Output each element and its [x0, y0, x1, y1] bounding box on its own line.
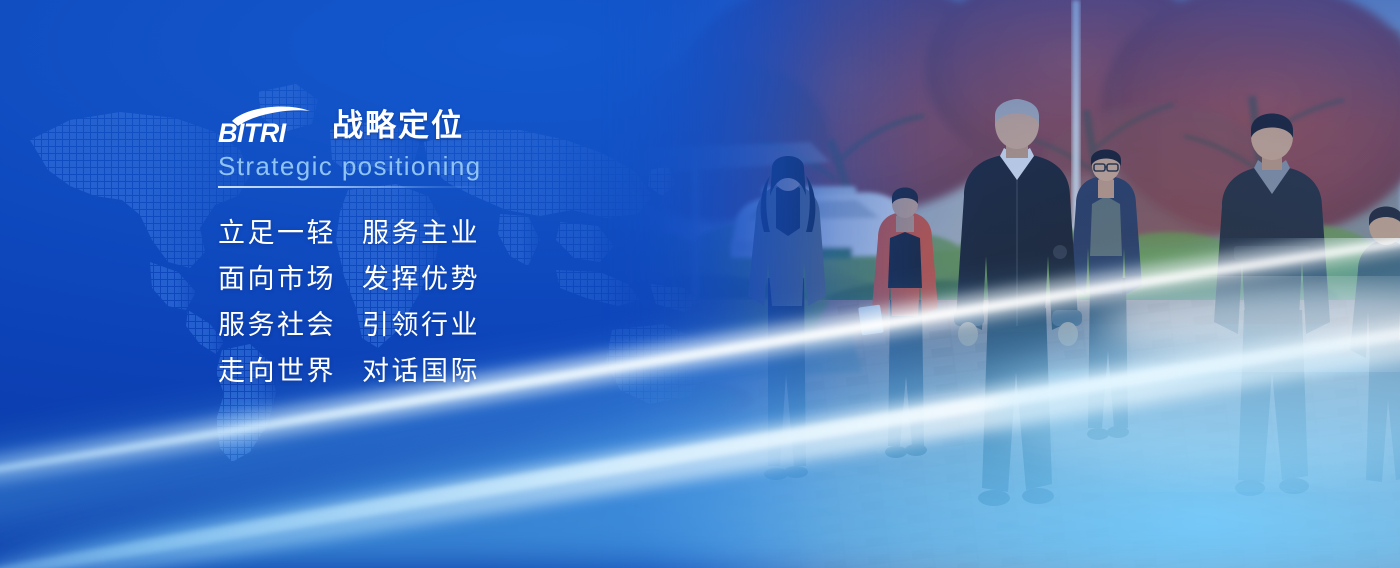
- bitri-logo: BITRI: [218, 104, 318, 144]
- slogan-right: 发挥优势: [362, 256, 480, 302]
- strategic-positioning-banner: BITRI 战略定位 Strategic positioning 立足一轻 服务…: [0, 0, 1400, 568]
- slogan-list: 立足一轻 服务主业 面向市场 发挥优势 服务社会 引领行业 走向世界 对话国际: [218, 210, 738, 394]
- slogan-right: 服务主业: [362, 210, 480, 256]
- slogan-line: 面向市场 发挥优势: [218, 256, 738, 302]
- bitri-wordmark: BITRI: [218, 118, 287, 146]
- banner-content: BITRI 战略定位 Strategic positioning 立足一轻 服务…: [218, 104, 738, 394]
- slogan-right: 对话国际: [362, 348, 480, 394]
- slogan-left: 面向市场: [218, 256, 336, 302]
- slogan-right: 引领行业: [362, 302, 480, 348]
- slogan-left: 服务社会: [218, 302, 336, 348]
- slogan-left: 立足一轻: [218, 210, 336, 256]
- brand-heading-row: BITRI 战略定位: [218, 104, 738, 144]
- slogan-left: 走向世界: [218, 348, 336, 394]
- heading-english: Strategic positioning: [218, 150, 738, 182]
- heading-divider: [218, 186, 488, 188]
- slogan-line: 立足一轻 服务主业: [218, 210, 738, 256]
- slogan-line: 走向世界 对话国际: [218, 348, 738, 394]
- swoosh-arc-icon: BITRI: [218, 104, 318, 146]
- slogan-line: 服务社会 引领行业: [218, 302, 738, 348]
- heading-chinese: 战略定位: [332, 109, 464, 144]
